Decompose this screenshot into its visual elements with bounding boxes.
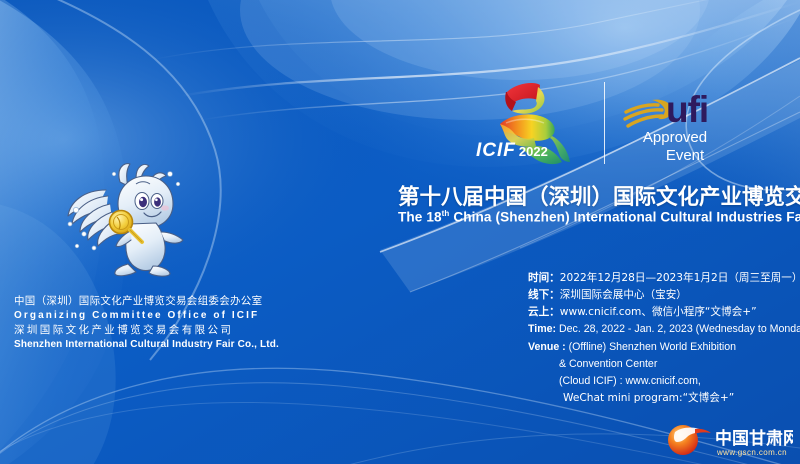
icif-wordmark-year: 2022 (519, 144, 548, 159)
svg-text:中国甘肃网: 中国甘肃网 (715, 428, 793, 449)
info-row: Venue : (Offline) Shenzhen World Exhibit… (528, 339, 796, 356)
logo-row: ICIF2022 ufi Approved Event (470, 78, 730, 170)
info-row: 时间：2022年12月28日—2023年1月2日（周三至周一） (528, 270, 796, 287)
logo-divider (604, 82, 605, 164)
info-value: (Cloud ICIF) : www.cnicif.com, (559, 375, 701, 387)
info-row: Time: Dec. 28, 2022 - Jan. 2, 2023 (Wedn… (528, 321, 796, 338)
info-value: Dec. 28, 2022 - Jan. 2, 2023 (Wednesday … (559, 323, 800, 335)
title-en-post: China (Shenzhen) International Cultural … (449, 210, 800, 225)
info-row: 云上：www.cnicif.com、微信小程序“文博会+” (528, 304, 796, 321)
ufi-approved-event-icon: ufi Approved Event (622, 82, 730, 168)
info-value: 深圳国际会展中心（宝安） (560, 289, 687, 301)
svg-text:ufi: ufi (666, 89, 708, 130)
icif-wordmark-text: ICIF (476, 140, 516, 161)
icif-mascot (58, 160, 193, 280)
svg-text:Approved: Approved (643, 129, 707, 146)
info-label: 线下： (528, 289, 560, 301)
info-label: 时间： (528, 272, 560, 284)
info-value: www.cnicif.com、微信小程序“文博会+” (560, 306, 757, 318)
organizer-line-cn-2: 深圳国际文化产业博览交易会有限公司 (14, 323, 314, 338)
icif-wordmark: ICIF2022 (476, 140, 548, 162)
svg-text:www.gscn.com.cn: www.gscn.com.cn (716, 448, 787, 457)
organizer-line-en-2: Shenzhen International Cultural Industry… (14, 338, 314, 352)
info-row: WeChat mini program:“文博会+” (528, 390, 796, 407)
page-title-chinese: 第十八届中国（深圳）国际文化产业博览交易会 (398, 180, 786, 211)
info-value: (Offline) Shenzhen World Exhibition (569, 341, 736, 353)
info-label: Venue : (528, 341, 566, 353)
info-row: (Cloud ICIF) : www.cnicif.com, (528, 373, 796, 390)
organizer-line-en-1: Organizing Committee Office of ICIF (14, 309, 314, 323)
info-value: WeChat mini program:“文博会+” (563, 392, 734, 404)
svg-text:Event: Event (666, 147, 705, 164)
info-label: 云上： (528, 306, 560, 318)
organizer-line-cn-1: 中国（深圳）国际文化产业博览交易会组委会办公室 (14, 294, 314, 309)
title-en-pre: The 18 (398, 210, 442, 225)
icif-2022-poster: ICIF2022 ufi Approved Event 第十八届中国（深圳）国际… (0, 0, 800, 464)
info-value: & Convention Center (559, 358, 657, 370)
gansu-net-watermark: 中国甘肃网 www.gscn.com.cn (665, 420, 793, 460)
info-label: Time: (528, 323, 556, 335)
info-row: 线下：深圳国际会展中心（宝安） (528, 287, 796, 304)
info-value: 2022年12月28日—2023年1月2日（周三至周一） (560, 272, 800, 284)
event-info-block: 时间：2022年12月28日—2023年1月2日（周三至周一） 线下：深圳国际会… (528, 270, 796, 407)
page-title-english: The 18th China (Shenzhen) International … (398, 209, 786, 225)
info-row: & Convention Center (528, 356, 796, 373)
organizer-block: 中国（深圳）国际文化产业博览交易会组委会办公室 Organizing Commi… (14, 294, 314, 352)
